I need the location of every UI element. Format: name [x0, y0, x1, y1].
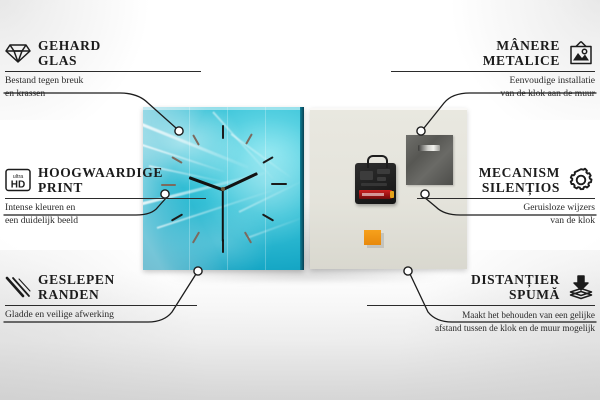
feature-title-line1: HOOGWAARDIGE [38, 165, 163, 180]
hanging-picture-icon [567, 40, 595, 66]
clock-second-hand [222, 189, 224, 241]
feature-desc-line2: van de klok [413, 215, 595, 228]
clock-battery [359, 190, 392, 199]
feature-title-line2: SILENȚIOS [479, 180, 560, 195]
beveled-edges-icon [5, 275, 31, 299]
feature-desc-line1: Eenvoudige installatie [387, 75, 595, 88]
feature-title-line2: METALICE [483, 53, 560, 68]
feature-gehard-glas: GEHARD GLAS Bestand tegen breuk en krass… [5, 38, 205, 101]
gear-icon [567, 166, 595, 194]
feature-desc-line1: Intense kleuren en [5, 202, 210, 215]
feature-title-line1: DISTANȚIER [471, 272, 560, 287]
feature-underline [5, 71, 201, 72]
feature-manere-metalice: MÂNERE METALICE Eenvoudige installatie v… [387, 38, 595, 101]
infographic-canvas: GEHARD GLAS Bestand tegen breuk en krass… [0, 0, 600, 400]
feature-desc-line2: van de klok aan de muur [387, 88, 595, 101]
feature-desc-line1: Gladde en veilige afwerking [5, 309, 201, 322]
ultra-hd-icon: ultra HD [5, 168, 31, 192]
feature-title-line2: SPUMĂ [471, 287, 560, 302]
feature-desc-line1: Geruisloze wijzers [413, 202, 595, 215]
feature-underline [391, 71, 595, 72]
feature-hoogwaardige-print: ultra HD HOOGWAARDIGE PRINT Intense kleu… [5, 165, 210, 228]
feature-title-line1: MECANISM [479, 165, 560, 180]
feature-title-line1: GEHARD [38, 38, 101, 53]
feature-desc-line2: afstand tussen de klok en de muur mogeli… [363, 322, 595, 334]
feature-title-line1: GESLEPEN [38, 272, 115, 287]
feature-title-line1: MÂNERE [483, 38, 560, 53]
feature-underline [5, 305, 197, 306]
feature-desc-line2: een duidelijk beeld [5, 215, 210, 228]
feature-underline [5, 198, 206, 199]
clock-mechanism-box [355, 163, 396, 204]
ultra-hd-icon-large-text: HD [11, 180, 25, 191]
feature-title-line2: PRINT [38, 180, 163, 195]
feature-geslepen-randen: GESLEPEN RANDEN Gladde en veilige afwerk… [5, 272, 201, 322]
feature-desc-line1: Bestand tegen breuk [5, 75, 205, 88]
feature-title-line2: RANDEN [38, 287, 115, 302]
feature-mecanism-silentios: MECANISM SILENȚIOS Geruisloze wijzers va… [413, 165, 595, 228]
clock-glass-edge [300, 107, 304, 270]
feature-underline [417, 198, 595, 199]
diamond-icon [5, 42, 31, 64]
feature-distantier-spuma: DISTANȚIER SPUMĂ Maakt het behouden van … [363, 272, 595, 334]
feature-desc-line2: en krassen [5, 88, 205, 101]
clock-centre-hub [221, 187, 225, 191]
feature-desc-line1: Maakt het behouden van een gelijke [363, 309, 595, 321]
foam-spacer-pad [364, 230, 381, 245]
foam-spacer-icon [567, 274, 595, 300]
feature-title-line2: GLAS [38, 53, 101, 68]
feature-underline [367, 305, 595, 306]
